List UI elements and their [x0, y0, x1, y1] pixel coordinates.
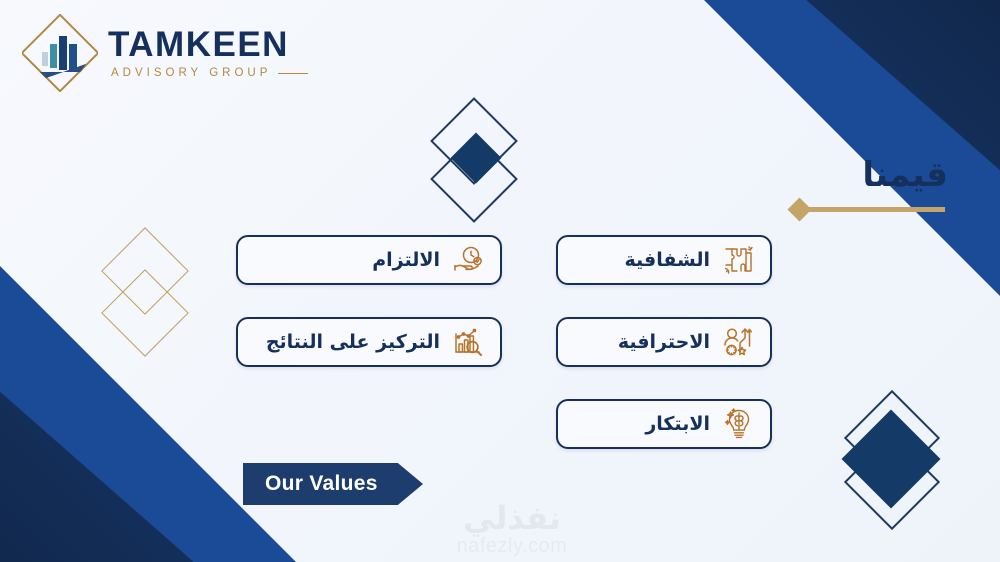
value-card-innovation[interactable]: الابتكار [556, 399, 772, 449]
bar-chart-magnifier-icon [452, 325, 486, 359]
ribbon-shape: Our Values [243, 463, 423, 505]
our-values-ribbon: Our Values [243, 463, 423, 505]
watermark-arabic: نفذلي [432, 502, 592, 534]
value-card-commitment[interactable]: الالتزام [236, 235, 502, 285]
watermark-domain: nafezly.com [432, 536, 592, 556]
watermark: نفذلي nafezly.com [432, 502, 592, 556]
value-card-transparency[interactable]: الشفافية [556, 235, 772, 285]
value-card-label: التركيز على النتائج [266, 331, 440, 353]
hand-holding-clock-icon [452, 243, 486, 277]
value-card-label: الالتزام [372, 249, 440, 271]
person-growth-gear-star-icon [722, 325, 756, 359]
brain-lightbulb-icon [722, 407, 756, 441]
value-card-label: الابتكار [645, 413, 710, 435]
ribbon-label: Our Values [265, 472, 378, 496]
slide-canvas: TAMKEEN ADVISORY GROUP قيمنا [0, 0, 1000, 562]
hands-puzzle-icon [722, 243, 756, 277]
value-card-label: الاحترافية [618, 331, 710, 353]
value-card-professionalism[interactable]: الاحترافية [556, 317, 772, 367]
value-card-focus-on-results[interactable]: التركيز على النتائج [236, 317, 502, 367]
value-card-label: الشفافية [624, 249, 710, 271]
values-card-grid: الالتزام التركيز عل [0, 0, 1000, 562]
